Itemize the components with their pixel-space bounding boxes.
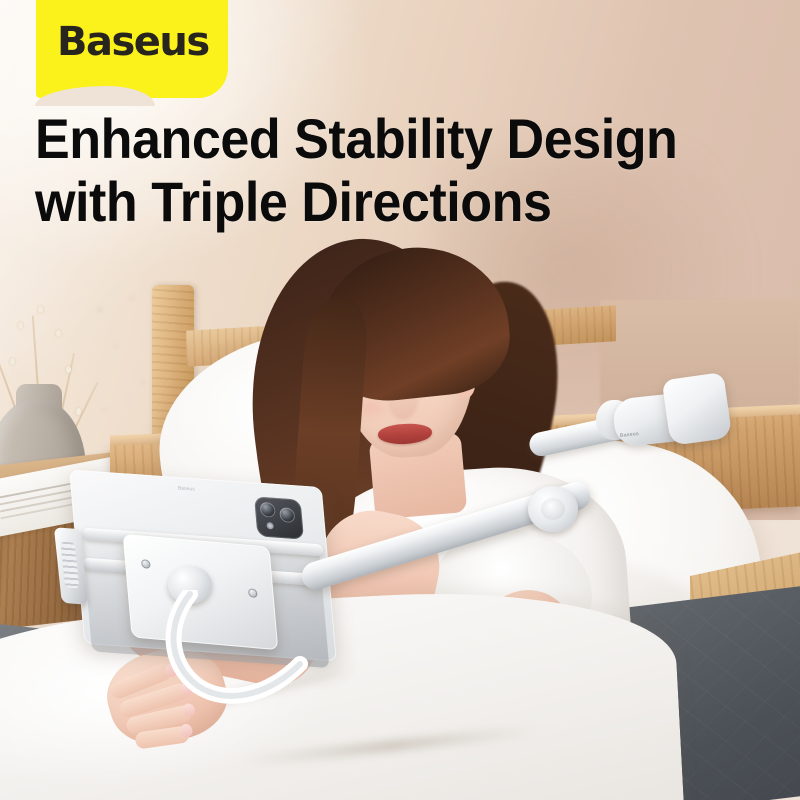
tablet-brand-mark: Baseus [178, 485, 195, 492]
headline-line-1: Enhanced Stability Design [35, 107, 677, 170]
brand-logo-text: Baseus [57, 22, 209, 62]
headboard-mount-base[interactable] [662, 372, 733, 446]
gooseneck-tube[interactable] [150, 590, 330, 710]
ad-banner: Baseus Baseus Baseus Enh [0, 0, 800, 800]
headline-line-2: with Triple Directions [35, 171, 677, 234]
page-title: Enhanced Stability Design with Triple Di… [35, 108, 677, 233]
elbow-joint[interactable] [528, 486, 578, 532]
camera-module-icon [254, 496, 304, 539]
